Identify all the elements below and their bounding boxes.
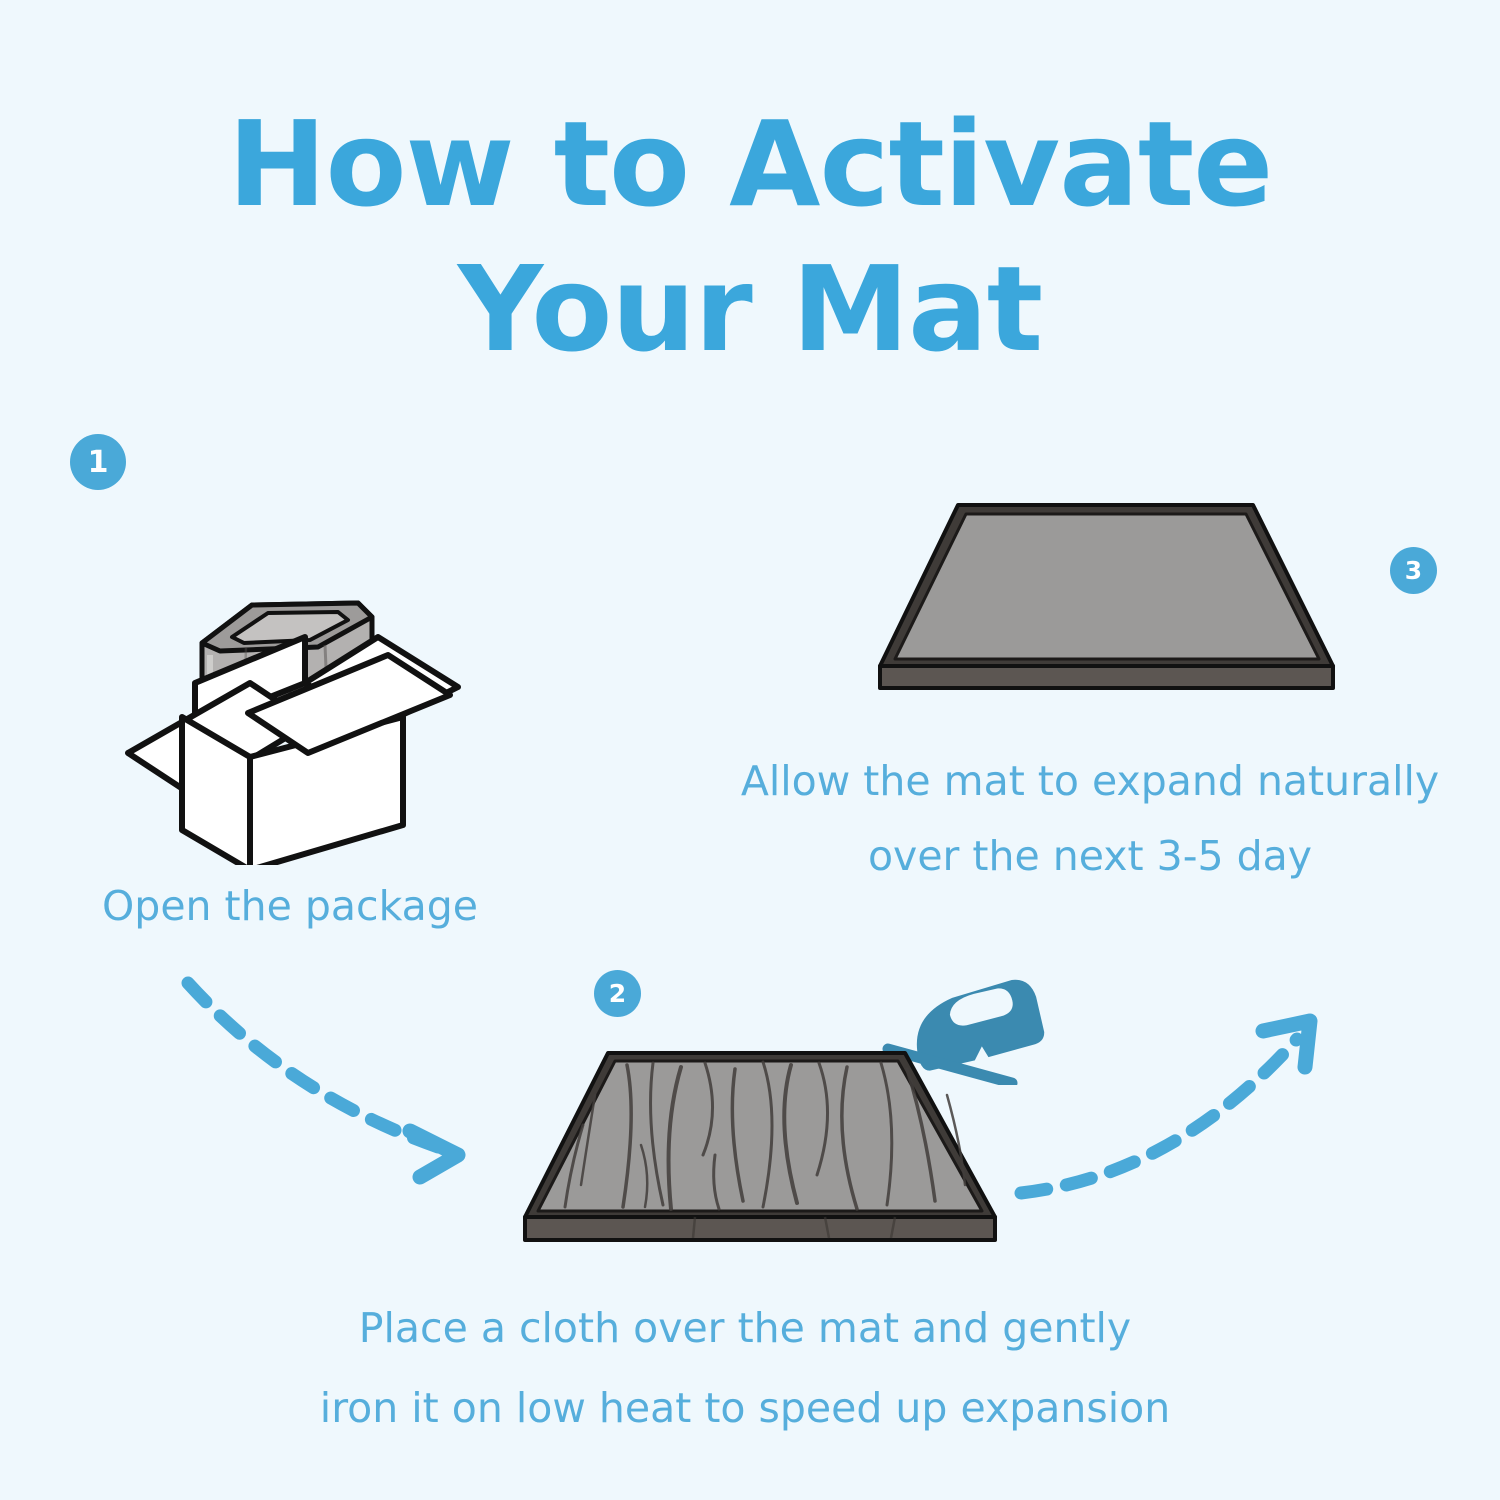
open-box-svg — [120, 495, 490, 865]
page-title-line-2: Your Mat — [0, 237, 1500, 382]
page-title: How to Activate Your Mat — [0, 92, 1500, 382]
flat-mat-illustration — [855, 478, 1365, 713]
open-box-illustration — [120, 495, 490, 865]
flat-mat-svg — [855, 478, 1365, 713]
step-2-caption: Place a cloth over the mat and gently ir… — [250, 1288, 1240, 1448]
step-1-number: 1 — [88, 445, 109, 480]
step-1-caption-line-1: Open the package — [0, 878, 580, 934]
step-3-badge: 3 — [1390, 547, 1437, 594]
step-2-number: 2 — [609, 979, 626, 1008]
step-2-caption-line-1: Place a cloth over the mat and gently — [250, 1288, 1240, 1368]
step-3-caption-line-1: Allow the mat to expand naturally — [690, 744, 1490, 819]
dashed-curved-arrow-down-right-icon — [170, 965, 510, 1205]
step-3-caption-line-2: over the next 3-5 day — [690, 819, 1490, 894]
step-2-caption-line-2: iron it on low heat to speed up expansio… — [250, 1368, 1240, 1448]
step-2-badge: 2 — [594, 970, 641, 1017]
wrinkled-mat-illustration — [495, 1035, 1025, 1275]
wrinkled-mat-svg — [495, 1035, 1025, 1275]
arrow-1-svg — [170, 965, 510, 1205]
dashed-curved-arrow-up-right-icon — [1005, 995, 1345, 1225]
arrow-2-svg — [1005, 995, 1345, 1225]
step-3-caption: Allow the mat to expand naturally over t… — [690, 744, 1490, 894]
step-3-number: 3 — [1405, 556, 1422, 585]
page-title-line-1: How to Activate — [0, 92, 1500, 237]
step-1-caption: Open the package — [0, 878, 580, 934]
step-1-badge: 1 — [70, 434, 126, 490]
infographic-canvas: How to Activate Your Mat 1 — [0, 0, 1500, 1500]
